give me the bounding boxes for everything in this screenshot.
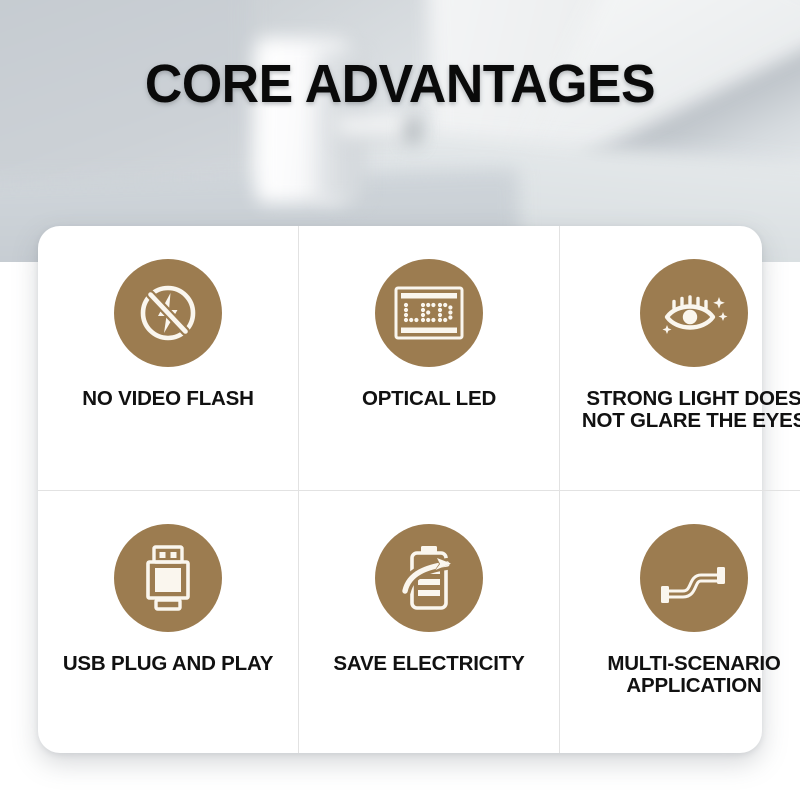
flexible-gooseneck-icon (640, 524, 748, 632)
promo-page: CORE ADVANTAGES NO VIDEO FLASH (0, 0, 800, 800)
feature-cell-no-video-flash[interactable]: NO VIDEO FLASH (38, 226, 298, 490)
feature-label-multi-scenario-application: MULTI-SCENARIO APPLICATION (564, 653, 800, 697)
feature-label-no-video-flash: NO VIDEO FLASH (38, 388, 298, 410)
feature-cell-usb-plug-and-play[interactable]: USB PLUG AND PLAY (38, 490, 298, 754)
feature-label-save-electricity: SAVE ELECTRICITY (299, 653, 559, 675)
page-title: CORE ADVANTAGES (16, 57, 784, 111)
feature-cell-optical-led[interactable]: OPTICAL LED (298, 226, 560, 490)
backdrop-blur-usb-prong (338, 118, 418, 142)
feature-grid: NO VIDEO FLASH (38, 226, 762, 753)
feature-cell-save-electricity[interactable]: SAVE ELECTRICITY (298, 490, 560, 754)
no-flash-icon (114, 259, 222, 367)
product-photo-backdrop (0, 0, 800, 262)
feature-card: NO VIDEO FLASH (38, 226, 762, 753)
led-panel-icon (375, 259, 483, 367)
backdrop-blur-usb-prong-tip (408, 118, 418, 142)
feature-cell-multi-scenario-application[interactable]: MULTI-SCENARIO APPLICATION (560, 490, 800, 754)
battery-arrow-icon (375, 524, 483, 632)
feature-label-optical-led: OPTICAL LED (299, 388, 559, 410)
eye-sparkle-icon (640, 259, 748, 367)
feature-label-strong-light-no-glare: STRONG LIGHT DOES NOT GLARE THE EYES (560, 388, 800, 432)
feature-cell-strong-light-no-glare[interactable]: STRONG LIGHT DOES NOT GLARE THE EYES (560, 226, 800, 490)
usb-plug-icon (114, 524, 222, 632)
feature-label-usb-plug-and-play: USB PLUG AND PLAY (38, 653, 298, 675)
